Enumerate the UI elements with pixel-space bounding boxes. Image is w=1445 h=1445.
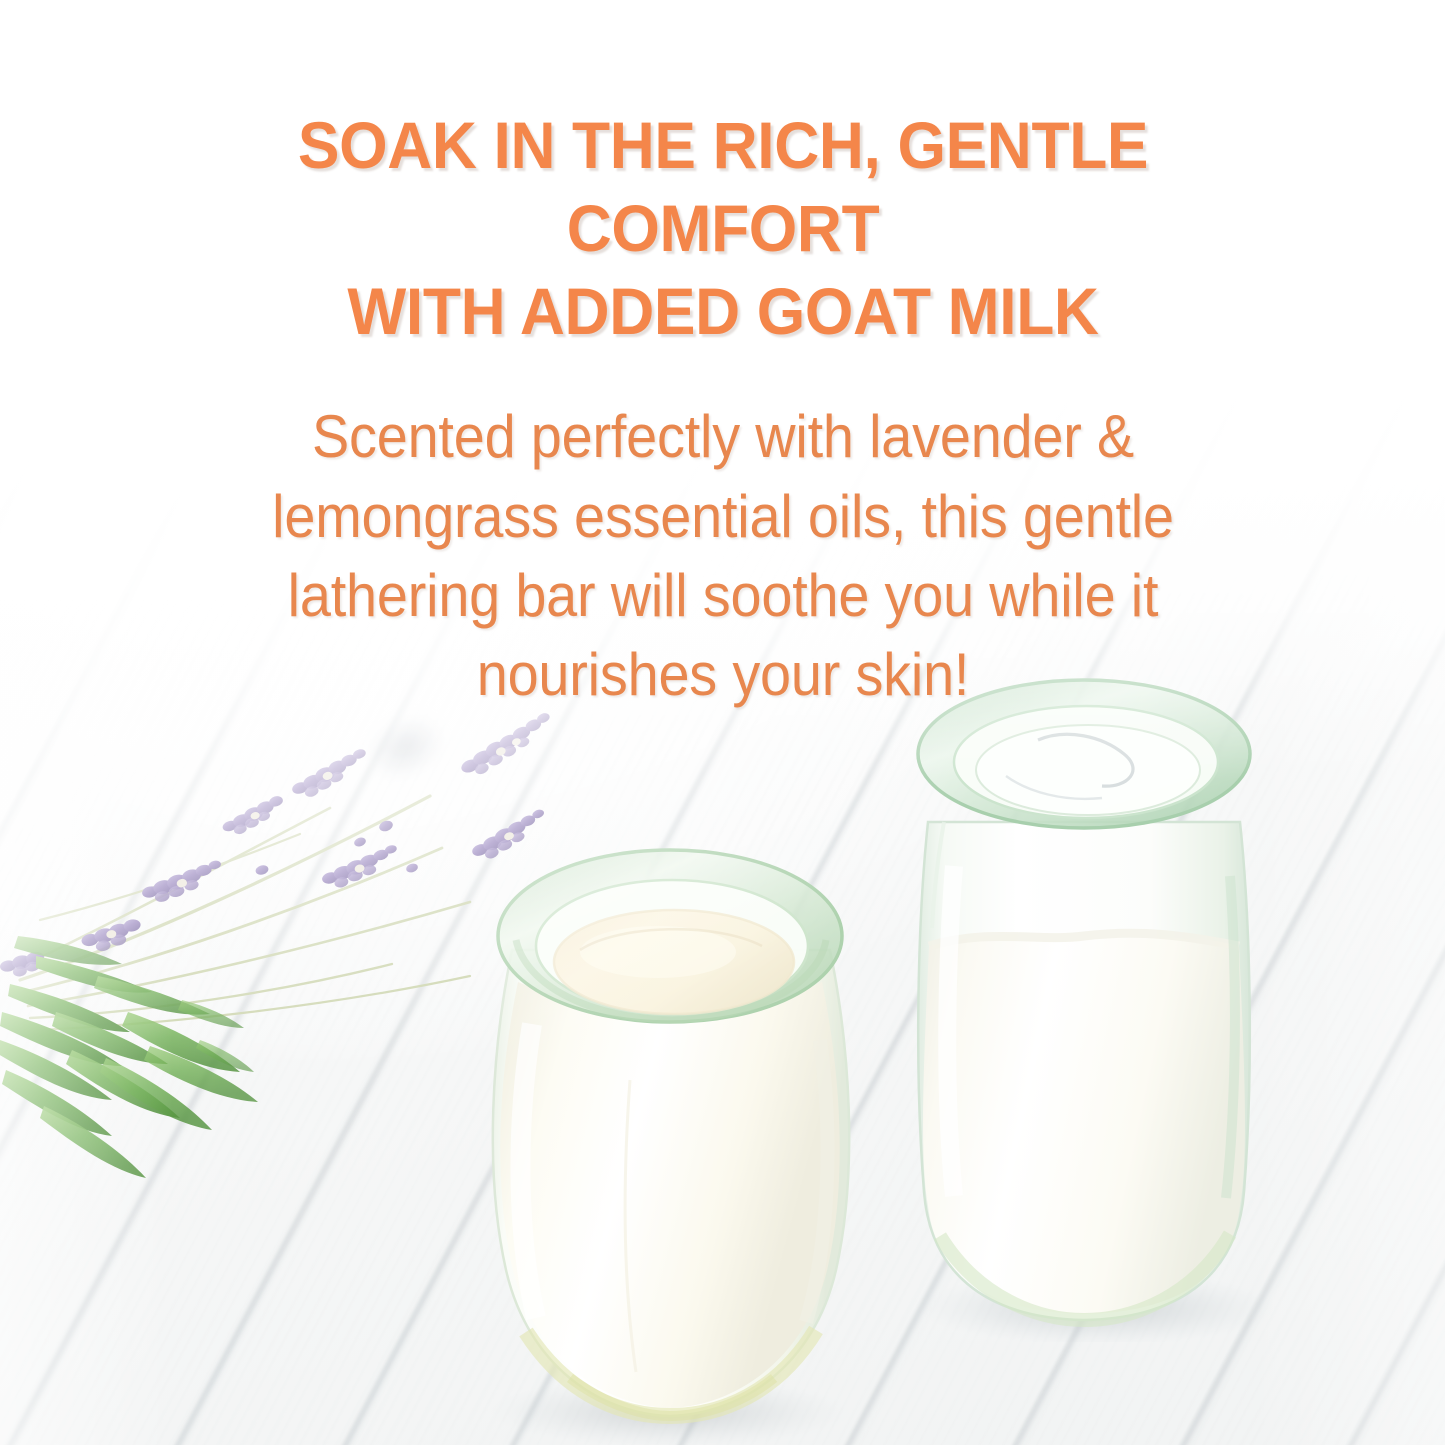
product-photo bbox=[0, 0, 1445, 1445]
lavender-and-rosemary bbox=[0, 620, 640, 1240]
jar-right-milk bbox=[923, 933, 1245, 1314]
product-banner: SOAK IN THE RICH, GENTLE COMFORT WITH AD… bbox=[0, 0, 1445, 1445]
jar-right bbox=[888, 636, 1278, 1342]
